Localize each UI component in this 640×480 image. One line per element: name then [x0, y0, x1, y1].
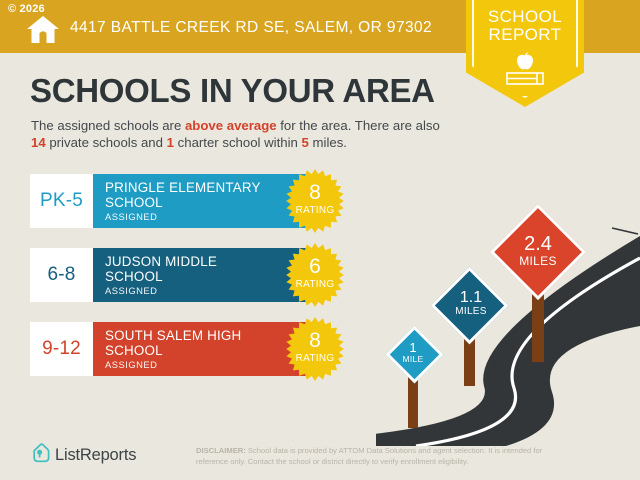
- summary-highlight-charter-count: 1: [167, 135, 174, 150]
- summary-highlight-radius: 5: [302, 135, 309, 150]
- page-title: SCHOOLS IN YOUR AREA: [30, 72, 435, 110]
- disclaimer-text: DISCLAIMER: School data is provided by A…: [196, 446, 556, 467]
- infographic-page: © 2026 4417 BATTLE CREEK RD SE, SALEM, O…: [0, 0, 640, 480]
- badge-title-line2: REPORT: [466, 26, 584, 44]
- summary-part-1: The assigned schools are: [31, 118, 185, 133]
- sign-post: [532, 292, 544, 362]
- summary-highlight-private-count: 14: [31, 135, 46, 150]
- listreports-house-pin-icon: [31, 443, 50, 468]
- school-row[interactable]: PK-5 PRINGLE ELEMENTARY SCHOOL ASSIGNED …: [30, 174, 320, 228]
- grade-range-box: 6-8: [30, 248, 93, 302]
- rating-badge: 8 RATING: [282, 168, 348, 234]
- school-name: JUDSON MIDDLE SCHOOL: [105, 254, 285, 284]
- rating-label: RATING: [282, 353, 348, 364]
- sign-text: 2.4 MILES: [480, 234, 596, 268]
- summary-highlight-rating: above average: [185, 118, 277, 133]
- school-name-line1: SOUTH SALEM HIGH: [105, 328, 285, 343]
- grade-range-box: 9-12: [30, 322, 93, 376]
- listreports-logo-text: ListReports: [55, 446, 136, 465]
- school-report-badge: SCHOOL REPORT: [466, 0, 584, 107]
- school-name: PRINGLE ELEMENTARY SCHOOL: [105, 180, 285, 210]
- badge-title: SCHOOL REPORT: [466, 8, 584, 44]
- apple-icon: [515, 52, 535, 70]
- summary-text: The assigned schools are above average f…: [31, 117, 451, 151]
- school-name-line2: SCHOOL: [105, 269, 285, 284]
- listreports-logo[interactable]: ListReports: [31, 443, 136, 468]
- rating-badge: 6 RATING: [282, 242, 348, 308]
- school-name-line1: JUDSON MIDDLE: [105, 254, 285, 269]
- disclaimer-body: School data is provided by ATTOM Data So…: [196, 446, 542, 466]
- badge-title-line1: SCHOOL: [466, 8, 584, 26]
- school-name-line2: SCHOOL: [105, 343, 285, 358]
- summary-part-2: for the area. There are also: [277, 118, 440, 133]
- rating-badge: 8 RATING: [282, 316, 348, 382]
- grade-range-label: 6-8: [47, 264, 75, 286]
- school-status-label: ASSIGNED: [105, 211, 157, 222]
- rating-score: 8: [282, 181, 348, 205]
- school-name-line1: PRINGLE ELEMENTARY: [105, 180, 285, 195]
- copyright-text: © 2026: [8, 3, 45, 15]
- sign-distance-value: 2.4: [480, 234, 596, 255]
- summary-part-4: charter school within: [174, 135, 302, 150]
- disclaimer-label: DISCLAIMER:: [196, 446, 246, 455]
- distance-sign: 2.4 MILES: [480, 202, 596, 362]
- school-status-label: ASSIGNED: [105, 359, 157, 370]
- book-icon: [506, 72, 544, 85]
- rating-label: RATING: [282, 279, 348, 290]
- property-address: 4417 BATTLE CREEK RD SE, SALEM, OR 97302: [70, 19, 432, 37]
- grade-range-label: PK-5: [40, 190, 83, 212]
- rating-score: 8: [282, 329, 348, 353]
- grade-range-label: 9-12: [42, 338, 81, 360]
- grade-range-box: PK-5: [30, 174, 93, 228]
- school-status-label: ASSIGNED: [105, 285, 157, 296]
- home-icon: [26, 14, 60, 44]
- summary-part-5: miles.: [309, 135, 347, 150]
- rating-label: RATING: [282, 205, 348, 216]
- rating-score: 6: [282, 255, 348, 279]
- school-name-line2: SCHOOL: [105, 195, 285, 210]
- school-name: SOUTH SALEM HIGH SCHOOL: [105, 328, 285, 358]
- summary-part-3: private schools and: [46, 135, 167, 150]
- school-row[interactable]: 9-12 SOUTH SALEM HIGH SCHOOL ASSIGNED 8 …: [30, 322, 320, 376]
- school-row[interactable]: 6-8 JUDSON MIDDLE SCHOOL ASSIGNED 6 RATI…: [30, 248, 320, 302]
- sign-distance-unit: MILES: [480, 255, 596, 268]
- road-illustration: 1 MILE 1.1 MILES 2.4 MILES: [376, 196, 640, 446]
